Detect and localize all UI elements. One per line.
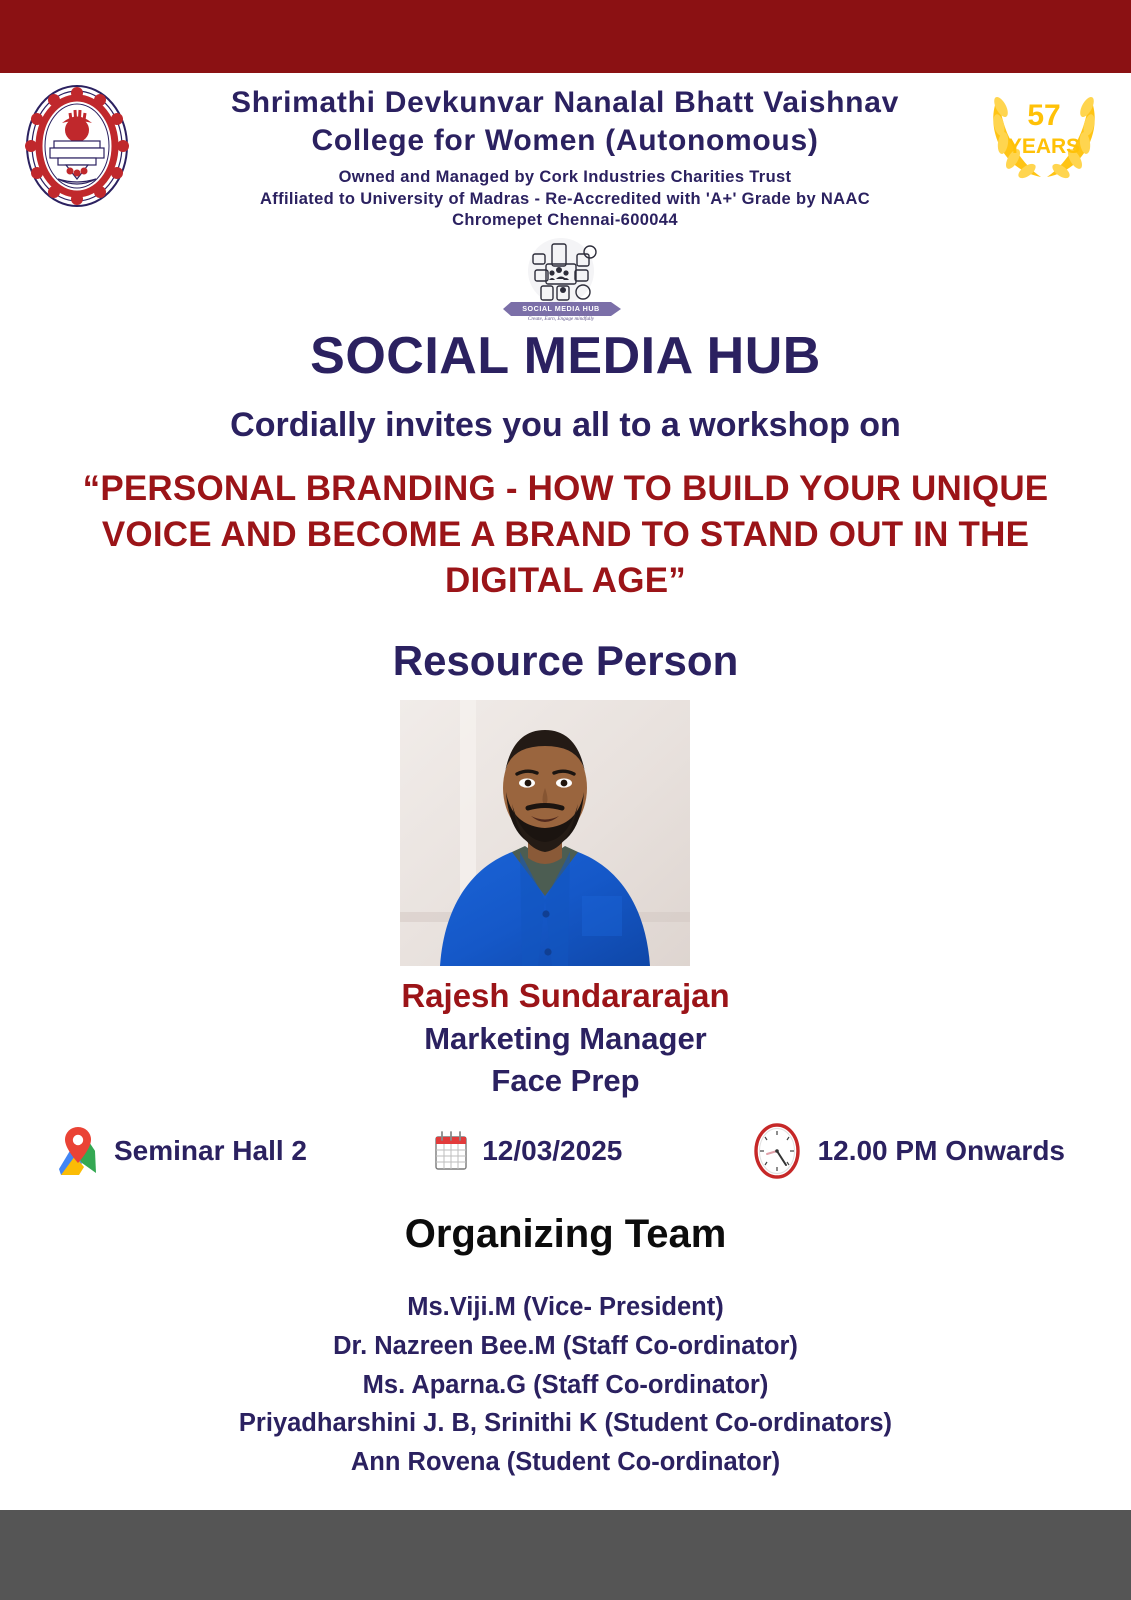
resource-person-organization: Face Prep: [0, 1063, 1131, 1099]
college-sub-line1: Owned and Managed by Cork Industries Cha…: [339, 168, 792, 186]
college-name-line2: College for Women (Autonomous): [311, 124, 818, 157]
resource-person-role: Marketing Manager: [0, 1021, 1131, 1057]
event-poster: Shrimathi Devkunvar Nanalal Bhatt Vaishn…: [0, 0, 1131, 1600]
event-time: 12.00 PM Onwards: [749, 1123, 1065, 1179]
list-item: Ms.Viji.M (Vice- President): [0, 1288, 1131, 1327]
anniversary-laurel-badge: 57 YEARS: [979, 81, 1109, 181]
college-sub-line3: Chromepet Chennai-600044: [452, 211, 678, 229]
college-name-line1: Shrimathi Devkunvar Nanalal Bhatt Vaishn…: [231, 86, 899, 119]
college-subtitle: Owned and Managed by Cork Industries Cha…: [160, 167, 970, 233]
event-venue: Seminar Hall 2: [55, 1125, 307, 1177]
social-media-hub-emblem: SOCIAL MEDIA HUB Create, Earn, Engage mi…: [497, 236, 625, 324]
event-details-row: Seminar Hall 2: [55, 1120, 1065, 1182]
location-pin-icon: [55, 1125, 101, 1177]
college-crest-logo: [14, 83, 140, 209]
list-item: Ann Rovena (Student Co-ordinator): [0, 1443, 1131, 1482]
organizing-team-list: Ms.Viji.M (Vice- President) Dr. Nazreen …: [0, 1288, 1131, 1482]
workshop-title: “PERSONAL BRANDING - HOW TO BUILD YOUR U…: [70, 466, 1061, 605]
event-time-text: 12.00 PM Onwards: [818, 1135, 1065, 1167]
top-red-band: [0, 0, 1131, 73]
calendar-icon: [433, 1130, 469, 1172]
list-item: Priyadharshini J. B, Srinithi K (Student…: [0, 1404, 1131, 1443]
organizing-team-heading: Organizing Team: [0, 1212, 1131, 1257]
college-name: Shrimathi Devkunvar Nanalal Bhatt Vaishn…: [160, 84, 970, 160]
emblem-tagline: Create, Earn, Engage mindfully: [528, 315, 595, 322]
anniversary-number: 57: [1027, 99, 1060, 132]
event-date: 12/03/2025: [433, 1130, 622, 1172]
event-date-text: 12/03/2025: [482, 1135, 622, 1167]
event-venue-text: Seminar Hall 2: [114, 1135, 307, 1167]
college-sub-line2: Affiliated to University of Madras - Re-…: [260, 190, 870, 208]
bottom-gray-band: [0, 1510, 1131, 1600]
header-text-block: Shrimathi Devkunvar Nanalal Bhatt Vaishn…: [160, 84, 970, 232]
list-item: Ms. Aparna.G (Staff Co-ordinator): [0, 1366, 1131, 1405]
page-title: SOCIAL MEDIA HUB: [0, 326, 1131, 386]
anniversary-label: YEARS: [1008, 135, 1080, 158]
poster-header: Shrimathi Devkunvar Nanalal Bhatt Vaishn…: [0, 73, 1131, 228]
clock-icon: [749, 1123, 805, 1179]
resource-person-name: Rajesh Sundararajan: [0, 977, 1131, 1015]
resource-person-heading: Resource Person: [0, 637, 1131, 685]
resource-person-photo: [400, 700, 690, 966]
list-item: Dr. Nazreen Bee.M (Staff Co-ordinator): [0, 1327, 1131, 1366]
emblem-banner-text: SOCIAL MEDIA HUB: [522, 304, 599, 313]
invitation-line: Cordially invites you all to a workshop …: [0, 406, 1131, 445]
